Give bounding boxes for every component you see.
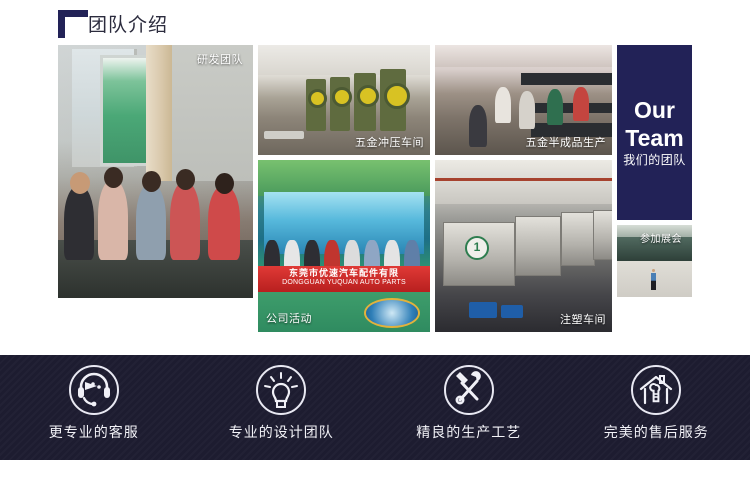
feature-label: 完美的售后服务 — [571, 423, 741, 441]
photo-detail-sky — [258, 160, 430, 196]
page-header: 团队介绍 — [0, 0, 750, 45]
photo-detail-glass — [100, 55, 152, 166]
activity-banner: 东莞市优速汽车配件有限 DONGGUAN YUQUAN AUTO PARTS — [258, 266, 430, 292]
photo-caption: 注塑车间 — [560, 313, 606, 327]
photo-tile-rd-team[interactable]: 研发团队 — [58, 45, 253, 298]
our-team-title-line2: Team — [617, 125, 692, 151]
photo-caption: 五金冲压车间 — [355, 136, 424, 150]
photo-grid: 研发团队 五金冲压车间 五金半成品生产 — [58, 45, 692, 335]
feature-label: 精良的生产工艺 — [384, 423, 554, 441]
our-team-title-line1: Our — [617, 97, 692, 123]
house-wrench-icon — [631, 365, 681, 415]
feature-label: 更专业的客服 — [9, 423, 179, 441]
photo-caption: 参加展会 — [640, 233, 682, 247]
photo-detail-ceiling — [435, 160, 612, 204]
features-banner: 更专业的客服 专业的设计团队 — [0, 355, 750, 460]
feature-item-customer-service[interactable]: 更专业的客服 — [9, 365, 179, 441]
feature-item-design-team[interactable]: 专业的设计团队 — [196, 365, 366, 441]
hammer-wrench-icon — [444, 365, 494, 415]
photo-caption: 五金半成品生产 — [526, 136, 607, 150]
photo-detail-ceiling — [435, 45, 612, 67]
activity-logo — [364, 298, 420, 328]
activity-banner-en: DONGGUAN YUQUAN AUTO PARTS — [258, 278, 430, 287]
photo-tile-exhibition[interactable]: 参加展会 — [617, 225, 692, 297]
page-title: 团队介绍 — [88, 14, 168, 38]
activity-banner-cn: 东莞市优速汽车配件有限 — [258, 269, 430, 278]
our-team-subtitle: 我们的团队 — [617, 152, 692, 168]
feature-item-production-craft[interactable]: 精良的生产工艺 — [384, 365, 554, 441]
feature-label: 专业的设计团队 — [196, 423, 366, 441]
photo-caption: 公司活动 — [266, 312, 312, 326]
photo-detail-curtain — [146, 45, 172, 181]
photo-tile-injection[interactable]: 1 注塑车间 — [435, 160, 612, 332]
photo-caption: 研发团队 — [197, 53, 243, 67]
photo-detail-pipe — [435, 178, 612, 181]
lightbulb-idea-icon — [256, 365, 306, 415]
machine-number-badge: 1 — [465, 236, 489, 260]
photo-tile-semifinished[interactable]: 五金半成品生产 — [435, 45, 612, 155]
corner-bracket-icon — [58, 10, 88, 38]
photo-tile-stamping[interactable]: 五金冲压车间 — [258, 45, 430, 155]
photo-tile-activity[interactable]: 东莞市优速汽车配件有限 DONGGUAN YUQUAN AUTO PARTS 公… — [258, 160, 430, 332]
headset-support-icon — [69, 365, 119, 415]
our-team-panel: Our Team 我们的团队 — [617, 45, 692, 220]
feature-item-after-sales[interactable]: 完美的售后服务 — [571, 365, 741, 441]
photo-detail-person — [651, 273, 656, 290]
